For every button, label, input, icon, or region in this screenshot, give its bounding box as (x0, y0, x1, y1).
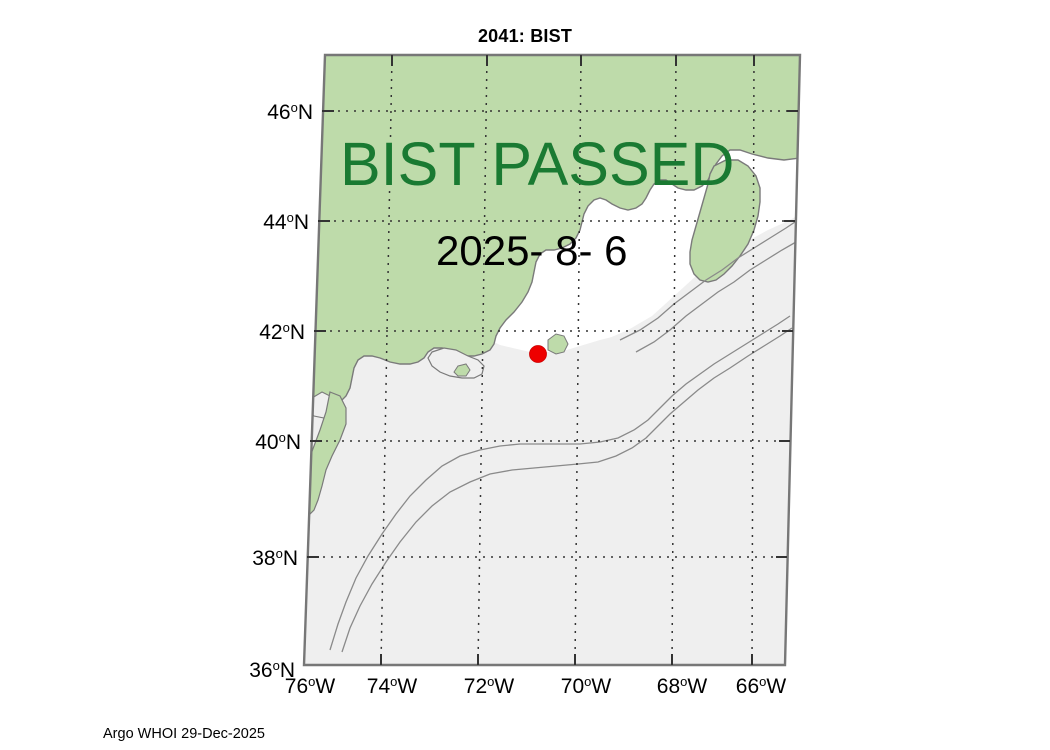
x-tick-label-5: 66oW (736, 674, 787, 698)
credit-footer: Argo WHOI 29-Dec-2025 (103, 726, 265, 742)
bist-date-text: 2025- 8- 6 (436, 227, 627, 274)
figure-container: 2041: BIST (0, 0, 1050, 750)
bist-status-text: BIST PASSED (340, 130, 734, 198)
x-tick-label-0: 76oW (285, 674, 336, 698)
x-tick-label-2: 72oW (464, 674, 515, 698)
y-tick-label-3: 40oN (255, 430, 301, 454)
y-tick-label-4: 38oN (252, 546, 298, 570)
x-tick-labels: 76oW 74oW 72oW 70oW 68oW 66oW (285, 674, 787, 698)
x-tick-label-1: 74oW (367, 674, 418, 698)
y-tick-label-1: 44oN (263, 210, 309, 234)
y-tick-label-2: 42oN (259, 320, 305, 344)
x-tick-label-3: 70oW (561, 674, 612, 698)
map-canvas[interactable]: 46oN 44oN 42oN 40oN 38oN 36oN 76oW (0, 0, 1050, 750)
x-tick-label-4: 68oW (657, 674, 708, 698)
float-position-marker[interactable] (530, 346, 547, 363)
y-tick-label-0: 46oN (267, 100, 313, 124)
y-tick-labels: 46oN 44oN 42oN 40oN 38oN 36oN (249, 100, 313, 682)
